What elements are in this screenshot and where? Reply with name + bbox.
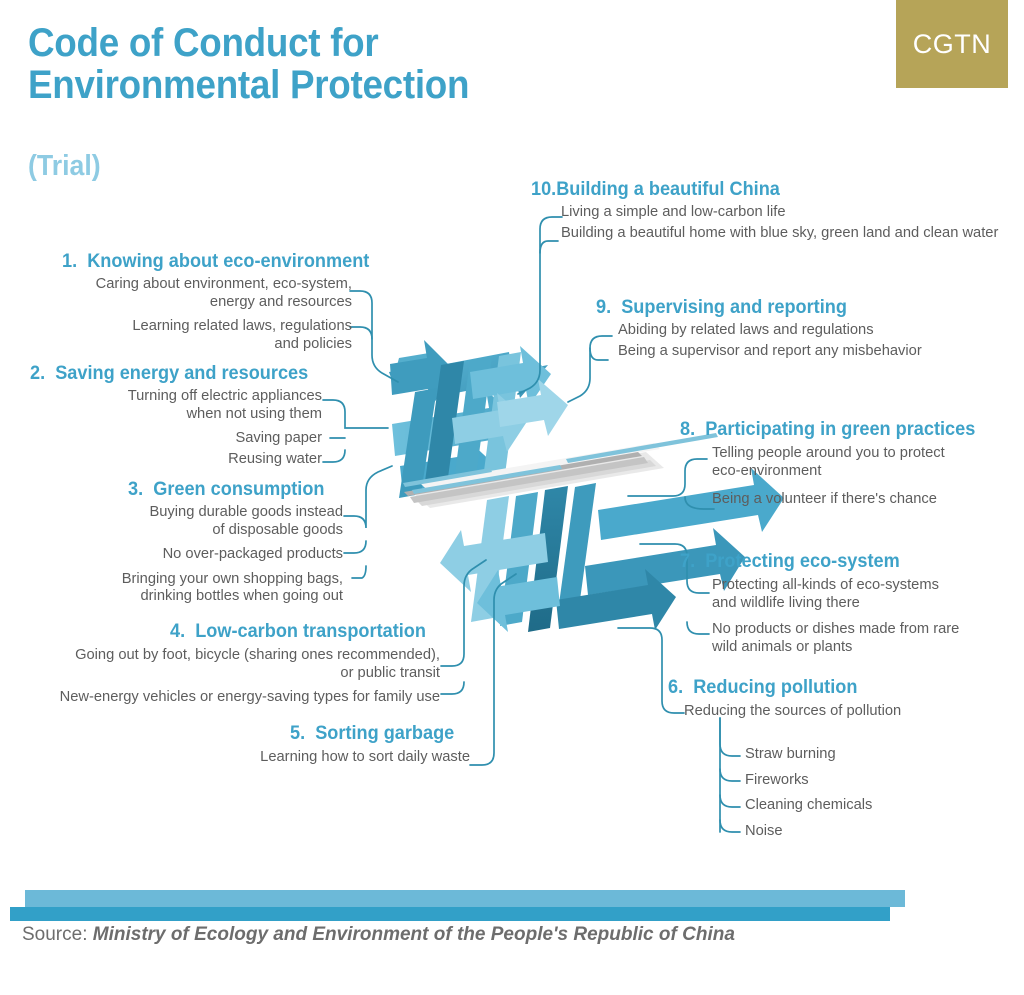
item-7-number: 7. [680,550,695,572]
item-8: 8. Participating in green practices Tell… [680,418,1020,509]
item-2: 2. Saving energy and resources Turning o… [30,362,322,468]
wire-item-1b [350,327,372,339]
item-9-sub-0: Abiding by related laws and regulations [618,322,1016,340]
item-10-heading: 10.Building a beautiful China [531,178,968,200]
item-4-number: 4. [170,620,185,642]
item-7-sub-1: No products or dishes made from rare wil… [712,621,1020,656]
item-2-title: Saving energy and resources [55,362,308,384]
wire-item-3b [344,541,366,553]
wire-item-5 [470,574,516,765]
item-6-nested-3: Noise [745,823,1005,841]
source-line: Source: Ministry of Ecology and Environm… [22,924,735,946]
item-3: 3. Green consumption Buying durable good… [58,478,343,606]
item-6-number: 6. [668,676,683,698]
item-8-title: Participating in green practices [705,418,975,440]
wire-item-4b [441,682,464,694]
item-6-nested-list: Straw burning Fireworks Cleaning chemica… [745,746,1005,840]
item-5-sub-0: Learning how to sort daily waste [150,749,470,767]
item-4: 4. Low-carbon transportation Going out b… [40,620,440,707]
item-5: 5. Sorting garbage Learning how to sort … [150,722,470,767]
item-3-title: Green consumption [153,478,324,500]
infographic-canvas: Code of Conduct for Environmental Protec… [0,0,1024,995]
item-9: 9. Supervising and reporting Abiding by … [596,296,1016,360]
item-8-heading: 8. Participating in green practices [680,418,996,440]
wire-item-2c [323,450,345,462]
item-9-sub-1: Being a supervisor and report any misbeh… [618,343,1016,361]
wire-item-3 [344,466,392,528]
item-10-sub-0: Living a simple and low-carbon life [561,204,1001,222]
item-5-number: 5. [290,722,305,744]
item-4-sub-1: New-energy vehicles or energy-saving typ… [40,689,440,707]
item-3-number: 3. [128,478,143,500]
item-5-title: Sorting garbage [315,722,454,744]
source-value: Ministry of Ecology and Environment of t… [93,924,735,945]
source-label: Source: [22,924,87,945]
item-2-number: 2. [30,362,45,384]
item-8-sub-1: Being a volunteer if there's chance [712,491,1020,509]
item-1-title: Knowing about eco-environment [87,250,369,272]
wire-item-6-nested [720,718,740,756]
item-1: 1. Knowing about eco-environment Caring … [62,250,352,353]
item-8-number: 8. [680,418,695,440]
item-10: 10.Building a beautiful China Living a s… [531,178,1001,242]
wire-item-6-nested-b [720,769,740,781]
item-1-sub-1: Learning related laws, regulations and p… [62,318,352,353]
item-6-nested-2: Cleaning chemicals [745,797,1005,815]
wire-item-10b [540,241,558,253]
item-9-heading: 9. Supervising and reporting [596,296,987,318]
item-7: 7. Protecting eco-system Protecting all-… [680,550,1020,656]
item-8-sub-0: Telling people around you to protect eco… [712,445,1020,480]
item-3-sub-1: No over-packaged products [58,546,343,564]
wire-item-10 [518,217,562,394]
item-1-heading: 1. Knowing about eco-environment [62,250,332,272]
wire-item-6-nested-d [720,820,740,832]
item-2-heading: 2. Saving energy and resources [30,362,302,384]
item-9-title: Supervising and reporting [621,296,847,318]
item-9-number: 9. [596,296,611,318]
item-6-heading: 6. Reducing pollution [668,676,984,698]
item-2-sub-1: Saving paper [30,430,322,448]
item-6-sub-0: Reducing the sources of pollution [684,703,1008,721]
item-5-heading: 5. Sorting garbage [290,722,457,744]
item-10-number: 10. [531,178,556,200]
item-4-title: Low-carbon transportation [195,620,426,642]
item-3-sub-0: Buying durable goods instead of disposab… [58,504,343,539]
wire-item-2 [323,400,388,428]
item-6-title: Reducing pollution [693,676,857,698]
item-6: 6. Reducing pollution Reducing the sourc… [668,676,1008,721]
item-2-sub-2: Reusing water [30,451,322,469]
item-6-nested-1: Fireworks [745,772,1005,790]
item-3-sub-2: Bringing your own shopping bags, drinkin… [58,571,343,606]
wire-item-1 [350,291,398,382]
wire-item-3c [352,566,366,578]
item-7-heading: 7. Protecting eco-system [680,550,996,572]
item-7-title: Protecting eco-system [705,550,900,572]
item-7-sub-0: Protecting all-kinds of eco-systems and … [712,577,1020,612]
item-4-heading: 4. Low-carbon transportation [170,620,421,642]
item-10-title: Building a beautiful China [556,178,780,200]
item-6-nested-0: Straw burning [745,746,1005,764]
footer-bar-bottom [10,907,890,921]
wire-item-4 [441,560,486,666]
item-2-sub-0: Turning off electric appliances when not… [30,388,322,423]
item-1-sub-0: Caring about environment, eco-system, en… [62,276,352,311]
footer-bar-top [25,890,905,907]
item-3-heading: 3. Green consumption [128,478,328,500]
item-4-sub-0: Going out by foot, bicycle (sharing ones… [40,647,440,682]
wire-item-6-nested-c [720,795,740,807]
item-1-number: 1. [62,250,77,272]
item-10-sub-1: Building a beautiful home with blue sky,… [561,225,1001,243]
